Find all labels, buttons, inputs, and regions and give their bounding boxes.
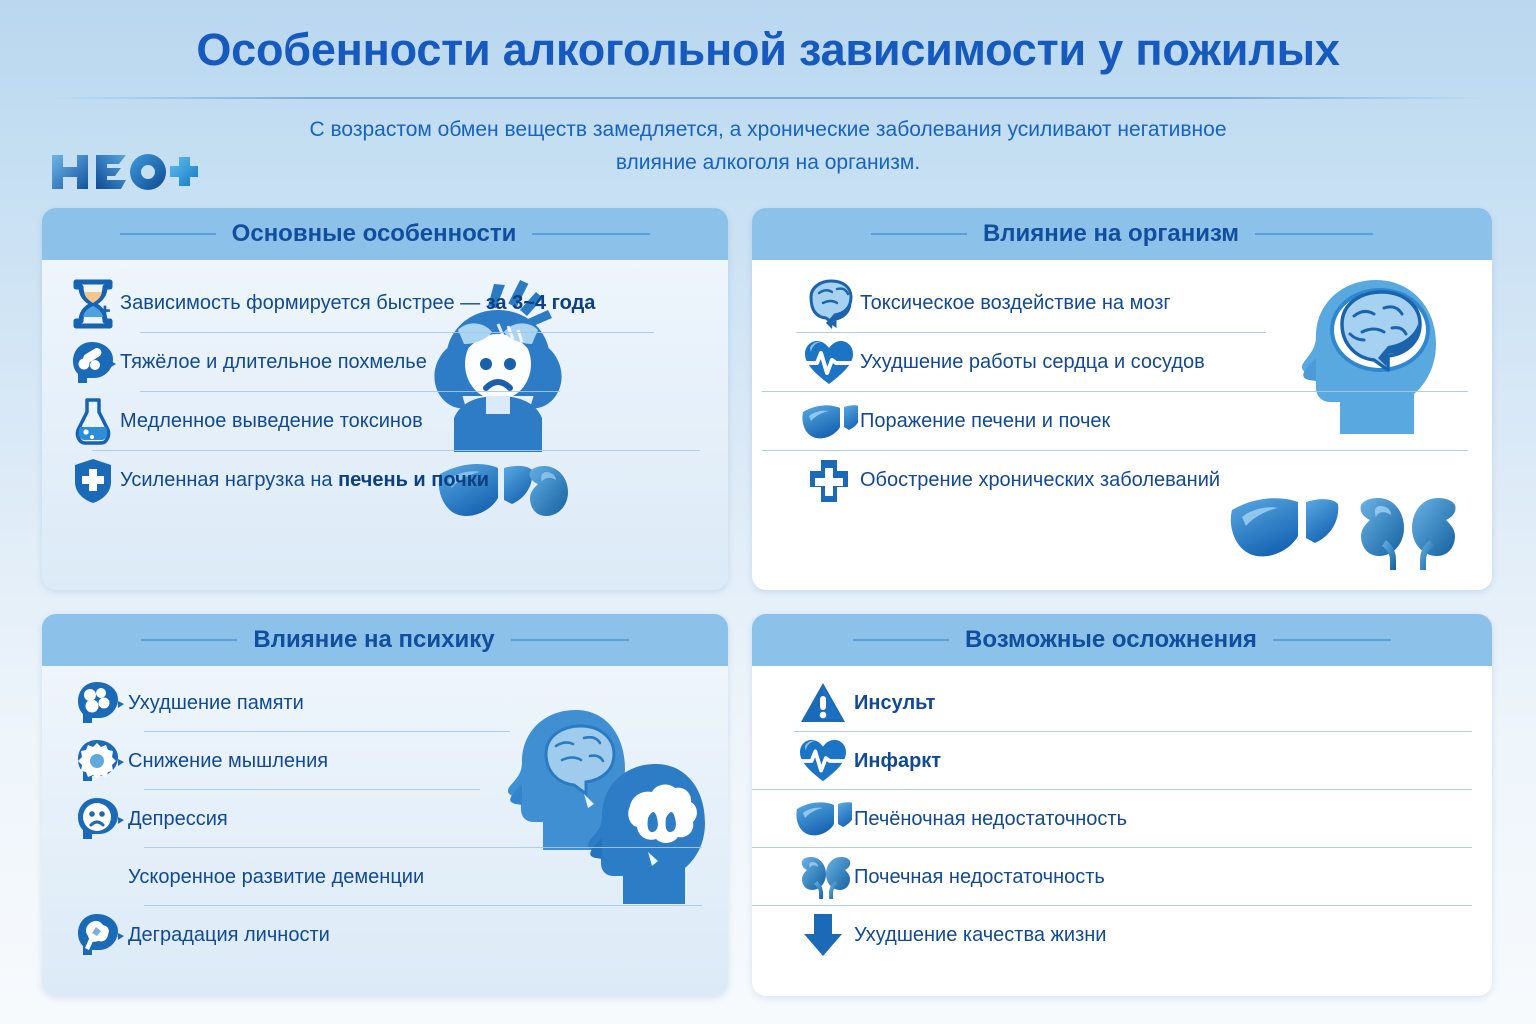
liver-icon [792,793,854,845]
header-rule-right [532,233,650,235]
page-subtitle: С возрастом обмен веществ замедляется, а… [268,114,1268,179]
list-item[interactable]: Ухудшение памяти [42,674,728,732]
neo-plus-logo [48,150,198,194]
header-rule-right [1273,639,1391,641]
head-sad-face-icon [70,793,128,845]
header-rule-left [120,233,216,235]
list-item[interactable]: Снижение мышления [42,732,728,790]
card-osnovnye-osobennosti: Основные особенности [42,208,728,590]
list-item-label: Тяжёлое и длительное похмелье [120,351,427,374]
card-4-title: Возможные осложнения [965,626,1257,654]
header-rule-left [871,233,967,235]
infographic-page: Особенности алкогольной зависимости у по… [0,0,1536,1024]
list-item[interactable]: Инфаркт [752,732,1492,790]
card-2-body: Токсическое воздействие на мозг Ухудшени… [752,260,1492,590]
card-3-header: Влияние на психику [42,614,728,666]
list-item-label: Депрессия [128,808,228,831]
list-item[interactable]: Почечная недостаточность [752,848,1492,906]
list-item[interactable]: Зависимость формируется быстрее — за 3~4… [42,274,728,333]
list-item[interactable]: Инсульт [752,674,1492,732]
card-3-items: Ухудшение памяти Снижение мышления [42,666,728,974]
head-dementia-icon [70,851,128,903]
list-item[interactable]: Медленное выведение токсинов [42,392,728,451]
list-item-label: Инсульт [854,692,935,715]
card-4-body: Инсульт Инфаркт [752,666,1492,996]
list-item[interactable]: Печёночная недостаточность [752,790,1492,848]
list-item-label: Ускоренное развитие деменции [128,866,424,889]
arrow-down-icon [792,909,854,961]
head-gear-icon [70,735,128,787]
list-item-label: Почечная недостаточность [854,866,1105,889]
card-1-title: Основные особенности [232,220,517,248]
list-item[interactable]: Поражение печени и почек [752,392,1492,451]
list-item[interactable]: Токсическое воздействие на мозг [752,274,1492,333]
list-item[interactable]: Ускоренное развитие деменции [42,848,728,906]
cross-medical-icon [798,454,860,508]
kidneys-icon [792,851,854,903]
list-item-label: Печёночная недостаточность [854,808,1127,831]
heart-pulse-icon [798,336,860,390]
card-1-body: Зависимость формируется быстрее — за 3~4… [42,260,728,590]
heart-pulse-icon [792,735,854,787]
header-rule-left [853,639,949,641]
list-item-label: Медленное выведение токсинов [120,410,423,433]
header-rule-left [141,639,237,641]
list-item[interactable]: Депрессия [42,790,728,848]
list-item[interactable]: Ухудшение работы сердца и сосудов [752,333,1492,392]
head-degraded-icon [70,909,128,961]
hourglass-icon [66,278,120,330]
liver-icon [798,395,860,449]
shield-cross-icon [66,455,120,507]
list-item-label: Ухудшение качества жизни [854,924,1106,947]
card-1-header: Основные особенности [42,208,728,260]
list-item-label: Обострение хронических заболеваний [860,469,1220,492]
brain-icon [798,277,860,331]
card-2-header: Влияние на организм [752,208,1492,260]
list-item[interactable]: Обострение хронических заболеваний [752,451,1492,510]
card-4-items: Инсульт Инфаркт [752,666,1492,974]
card-4-header: Возможные осложнения [752,614,1492,666]
card-vozmozhnye-oslozhneniya: Возможные осложнения Инсульт [752,614,1492,996]
list-item[interactable]: Ухудшение качества жизни [752,906,1492,964]
list-item-label: Усиленная нагрузка на печень и почки [120,469,489,492]
list-item[interactable]: Тяжёлое и длительное похмелье [42,333,728,392]
list-item-label: Инфаркт [854,750,941,773]
warning-triangle-icon [792,677,854,729]
card-3-title: Влияние на психику [253,626,494,654]
card-1-items: Зависимость формируется быстрее — за 3~4… [42,260,728,520]
list-item-label: Зависимость формируется быстрее — за 3~4… [120,292,595,315]
list-item-label: Ухудшение работы сердца и сосудов [860,351,1205,374]
list-item-label: Деградация личности [128,924,330,947]
list-item[interactable]: Усиленная нагрузка на печень и почки [42,451,728,510]
card-vliyanie-na-psihiku: Влияние на психику [42,614,728,996]
header-rule-right [511,639,629,641]
list-item[interactable]: Деградация личности [42,906,728,964]
title-divider [50,97,1486,99]
list-item-label: Ухудшение памяти [128,692,304,715]
list-item-label: Токсическое воздействие на мозг [860,292,1171,315]
header-rule-right [1255,233,1373,235]
head-pills-icon [66,337,120,389]
flask-icon [66,396,120,448]
card-2-items: Токсическое воздействие на мозг Ухудшени… [752,260,1492,520]
list-item-label: Поражение печени и почек [860,410,1110,433]
list-item-label: Снижение мышления [128,750,328,773]
card-2-title: Влияние на организм [983,220,1239,248]
page-title: Особенности алкогольной зависимости у по… [0,26,1536,75]
card-3-body: Ухудшение памяти Снижение мышления [42,666,728,996]
head-memory-icon [70,677,128,729]
card-vliyanie-na-organizm: Влияние на организм [752,208,1492,590]
